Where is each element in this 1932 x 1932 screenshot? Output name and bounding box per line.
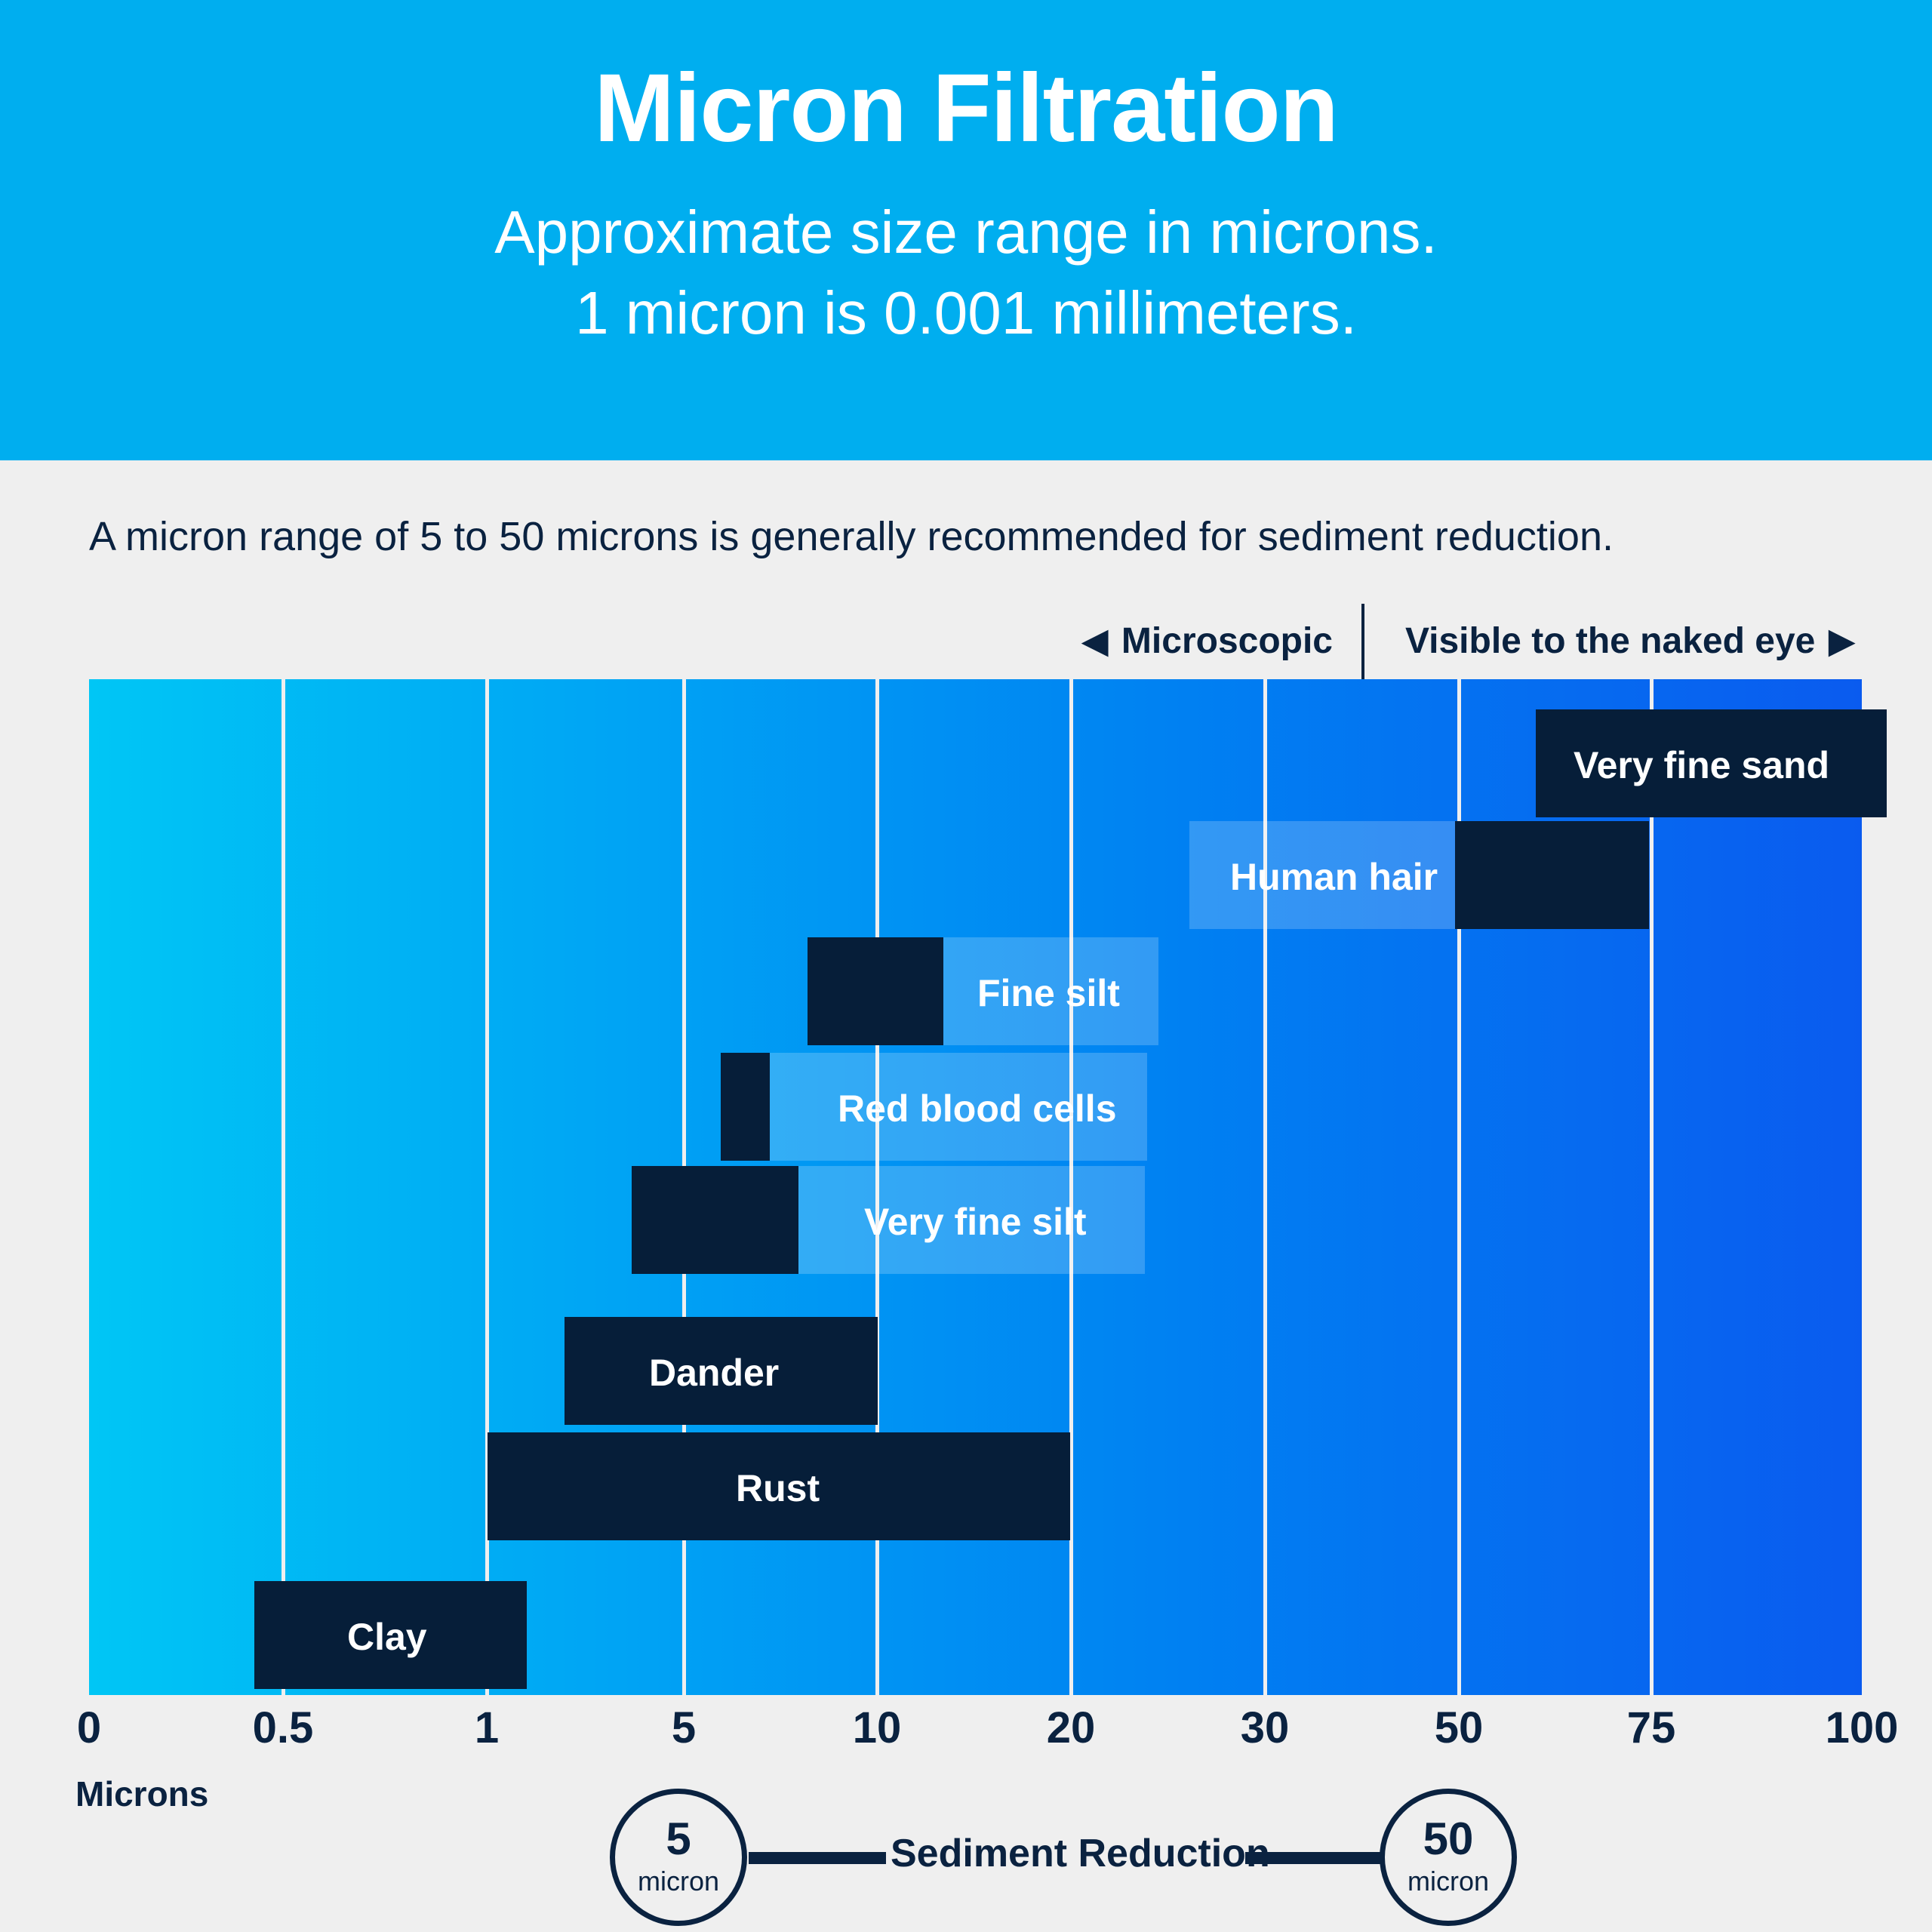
bar-label-very-fine-sand: Very fine sand — [1574, 743, 1829, 787]
legend-microscopic: ◀ Microscopic — [1082, 620, 1333, 662]
gridline-1 — [485, 679, 489, 1695]
axis-tick-20: 20 — [1047, 1703, 1096, 1753]
axis-tick-30: 30 — [1241, 1703, 1290, 1753]
page-title: Micron Filtration — [594, 53, 1338, 164]
bar-segment-dark — [1455, 821, 1649, 929]
axis-tick-0.5: 0.5 — [253, 1703, 314, 1753]
arrow-right-icon: ▶ — [1829, 625, 1854, 658]
arrow-left-icon: ◀ — [1082, 625, 1108, 658]
visibility-legend: ◀ Microscopic Visible to the naked eye ▶ — [0, 604, 1932, 679]
sediment-min-unit: micron — [638, 1865, 719, 1897]
axis-tick-50: 50 — [1435, 1703, 1484, 1753]
axis-tick-10: 10 — [853, 1703, 902, 1753]
bar-label-dander: Dander — [649, 1351, 779, 1395]
axis-tick-100: 100 — [1826, 1703, 1899, 1753]
axis-tick-75: 75 — [1627, 1703, 1676, 1753]
sediment-max-badge: 50 micron — [1380, 1789, 1517, 1926]
bar-label-rust: Rust — [736, 1466, 820, 1510]
axis-tick-1: 1 — [475, 1703, 499, 1753]
axis-tick-5: 5 — [672, 1703, 696, 1753]
bar-label-human-hair: Human hair — [1230, 855, 1438, 899]
x-axis: 00.5151020305075100 — [0, 1703, 1932, 1770]
legend-visible-label: Visible to the naked eye — [1405, 620, 1815, 662]
sediment-reduction-footer: 5 micron Sediment Reduction 50 micron — [0, 1789, 1932, 1932]
sediment-max-value: 50 — [1423, 1817, 1474, 1862]
sediment-reduction-title: Sediment Reduction — [891, 1831, 1242, 1876]
sediment-min-badge: 5 micron — [610, 1789, 747, 1926]
bar-label-clay: Clay — [347, 1615, 427, 1659]
sediment-max-unit: micron — [1407, 1865, 1489, 1897]
recommendation-text: A micron range of 5 to 50 microns is gen… — [89, 513, 1863, 560]
subtitle-line-2: 1 micron is 0.001 millimeters. — [494, 273, 1437, 353]
subtitle-line-1: Approximate size range in microns. — [494, 192, 1437, 272]
bar-label-red-blood-cells: Red blood cells — [838, 1087, 1117, 1131]
micron-range-chart: Very fine sandHuman hairFine siltRed blo… — [89, 679, 1862, 1695]
gridline-0.5 — [281, 679, 285, 1695]
legend-visible: Visible to the naked eye ▶ — [1405, 620, 1854, 662]
sediment-connector-right — [1245, 1852, 1381, 1864]
header-banner: Micron Filtration Approximate size range… — [0, 0, 1932, 460]
sediment-connector-left — [749, 1852, 886, 1864]
bar-segment-dark — [632, 1166, 798, 1274]
bar-label-very-fine-silt: Very fine silt — [864, 1200, 1087, 1244]
gridline-75 — [1650, 679, 1654, 1695]
axis-tick-0: 0 — [77, 1703, 101, 1753]
page-subtitle: Approximate size range in microns. 1 mic… — [494, 192, 1437, 353]
sediment-min-value: 5 — [666, 1817, 691, 1862]
bar-segment-dark — [721, 1053, 770, 1161]
bar-segment-dark — [808, 937, 943, 1045]
bar-label-fine-silt: Fine silt — [977, 971, 1120, 1015]
legend-microscopic-label: Microscopic — [1121, 620, 1333, 662]
